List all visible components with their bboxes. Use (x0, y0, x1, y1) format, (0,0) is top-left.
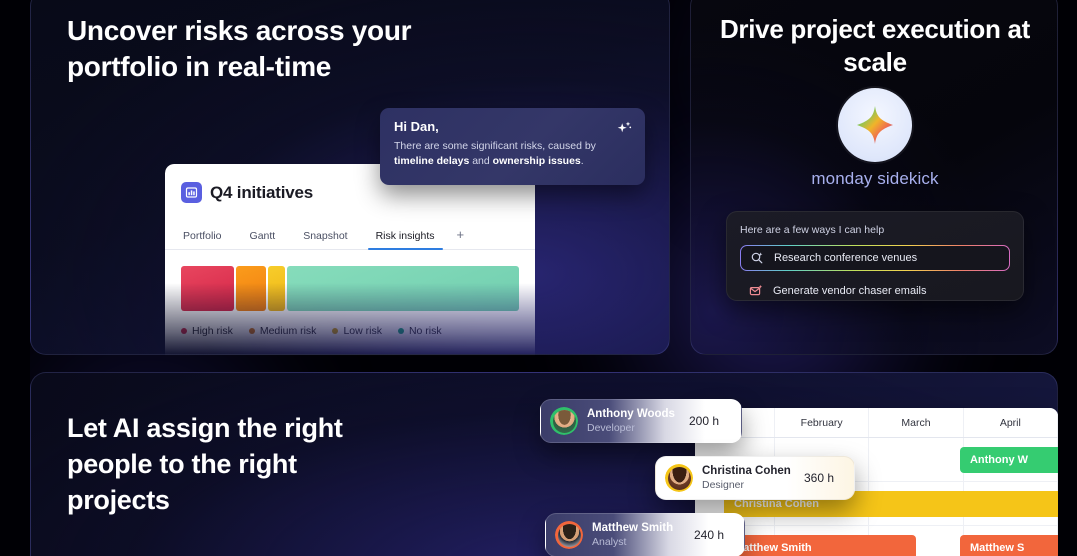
person-name: Christina Cohen (702, 465, 794, 479)
legend-dot-high (181, 328, 187, 334)
suggestion-label-research: Research conference venues (774, 252, 917, 264)
person-hours: 200 h (689, 414, 741, 428)
avatar (555, 521, 583, 549)
timeline-bar-matthew-1[interactable]: Matthew Smith (724, 535, 916, 556)
assign-headline: Let AI assign the right people to the ri… (67, 411, 397, 519)
person-name: Matthew Smith (592, 522, 684, 536)
assistant-body-bold-1: timeline delays (394, 155, 469, 167)
avatar (550, 407, 578, 435)
person-role: Analyst (592, 536, 684, 549)
person-chip-matthew[interactable]: Matthew Smith Analyst 240 h (545, 513, 745, 556)
suggestion-vendor-emails[interactable]: Generate vendor chaser emails (740, 278, 1010, 304)
legend-label-low: Low risk (343, 325, 382, 337)
legend-item-medium: Medium risk (249, 325, 317, 337)
tab-snapshot[interactable]: Snapshot (289, 230, 361, 249)
timeline-bar-anthony[interactable]: Anthony W (960, 447, 1058, 473)
risk-segment-none (287, 266, 519, 311)
legend-dot-low (332, 328, 338, 334)
page-right-gutter (1058, 0, 1077, 556)
assistant-body: There are some significant risks, caused… (394, 139, 631, 169)
assistant-greeting: Hi Dan, (394, 119, 631, 134)
q4-initiatives-board[interactable]: Q4 initiatives Portfolio Gantt Snapshot … (165, 164, 535, 356)
person-hours: 360 h (804, 471, 856, 485)
sidekick-prompt: Here are a few ways I can help (740, 224, 1010, 236)
assistant-insight-card: Hi Dan, There are some significant risks… (380, 108, 645, 185)
tab-portfolio[interactable]: Portfolio (181, 230, 236, 249)
person-meta: Anthony Woods Developer (587, 408, 679, 434)
mail-sparkle-icon (749, 284, 763, 298)
sparkle-icon (615, 120, 633, 138)
timeline-month-april: April (964, 408, 1058, 437)
legend-item-none: No risk (398, 325, 442, 337)
board-title: Q4 initiatives (210, 183, 313, 203)
legend-dot-medium (249, 328, 255, 334)
sidekick-headline: Drive project execution at scale (709, 13, 1041, 80)
timeline-month-february: February (775, 408, 869, 437)
sidekick-wordmark: monday sidekick (709, 169, 1041, 189)
person-hours: 240 h (694, 528, 746, 542)
risk-segment-high (181, 266, 234, 311)
legend-label-medium: Medium risk (260, 325, 317, 337)
sidekick-logo-wrap (838, 88, 912, 162)
sidekick-sparkle-logo (838, 88, 912, 162)
tab-risk-insights[interactable]: Risk insights (362, 230, 449, 249)
tab-gantt[interactable]: Gantt (236, 230, 290, 249)
avatar (665, 464, 693, 492)
add-tab-button[interactable]: + (449, 227, 473, 249)
suggestion-label-vendor: Generate vendor chaser emails (773, 285, 926, 297)
person-name: Anthony Woods (587, 408, 679, 422)
risk-headline: Uncover risks across your portfolio in r… (67, 13, 467, 85)
person-meta: Christina Cohen Designer (702, 465, 794, 491)
board-tabs[interactable]: Portfolio Gantt Snapshot Risk insights + (165, 213, 535, 250)
risk-distribution-bar (181, 266, 519, 311)
search-sparkle-icon (750, 251, 764, 265)
timeline-bar-matthew-2[interactable]: Matthew S (960, 535, 1058, 556)
sidekick-feature-card: Drive project execution at scale (690, 0, 1058, 355)
timeline-row-matthew: Matthew Smith Matthew S (695, 526, 1058, 556)
page-root: Uncover risks across your portfolio in r… (0, 0, 1077, 556)
timeline-month-march: March (869, 408, 963, 437)
legend-label-high: High risk (192, 325, 233, 337)
page-left-gutter (0, 0, 30, 556)
person-meta: Matthew Smith Analyst (592, 522, 684, 548)
assistant-body-suffix: . (581, 155, 584, 167)
legend-label-none: No risk (409, 325, 442, 337)
legend-dot-none (398, 328, 404, 334)
risk-segment-low (268, 266, 285, 311)
person-chip-anthony[interactable]: Anthony Woods Developer 200 h (540, 399, 742, 443)
assistant-body-bold-2: ownership issues (493, 155, 581, 167)
assistant-body-prefix: There are some significant risks, caused… (394, 140, 596, 152)
board-icon (181, 182, 202, 203)
person-chip-christina[interactable]: Christina Cohen Designer 360 h (655, 456, 855, 500)
suggestion-research-venues[interactable]: Research conference venues (740, 245, 1010, 271)
timeline-header: February March April (695, 408, 1058, 438)
person-role: Designer (702, 479, 794, 492)
legend-item-low: Low risk (332, 325, 382, 337)
assistant-body-mid: and (469, 155, 492, 167)
sidekick-suggestions-panel: Here are a few ways I can help Research … (726, 211, 1024, 301)
risk-segment-medium (236, 266, 266, 311)
person-role: Developer (587, 422, 679, 435)
legend-item-high: High risk (181, 325, 233, 337)
risk-legend: High risk Medium risk Low risk No risk (181, 325, 519, 337)
